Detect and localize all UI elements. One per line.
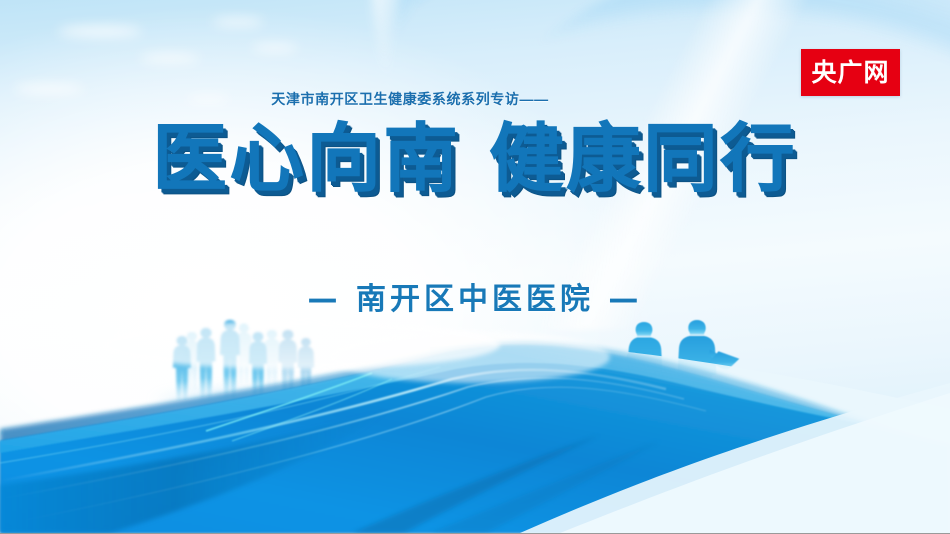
hospital-name: — 南开区中医医院 — <box>308 285 643 315</box>
cloud-wisp-1 <box>58 26 142 37</box>
poster-banner: 央广网 天津市南开区卫生健康委系统系列专访—— 医心向南 健康同行 — 南开区中… <box>0 0 950 534</box>
cloud-wisp-4 <box>252 44 298 52</box>
headline-block: 天津市南开区卫生健康委系统系列专访—— 医心向南 健康同行 <box>0 92 950 198</box>
crowd-ground-glow <box>150 385 340 413</box>
broadcaster-logo-text: 央广网 <box>811 60 889 85</box>
cloud-wisp-3 <box>212 18 264 26</box>
crowd-silhouettes <box>168 306 316 402</box>
cloud-wisp-2 <box>140 54 200 63</box>
broadcaster-logo-badge[interactable]: 央广网 <box>801 49 900 96</box>
doctors-ground-glow <box>600 418 770 444</box>
subheading-block: — 南开区中医医院 — <box>0 285 950 315</box>
page-title: 医心向南 健康同行 <box>153 120 798 198</box>
road-graphic <box>0 313 950 533</box>
eyebrow-text: 天津市南开区卫生健康委系统系列专访—— <box>0 92 950 106</box>
doctor-silhouettes <box>622 318 744 434</box>
